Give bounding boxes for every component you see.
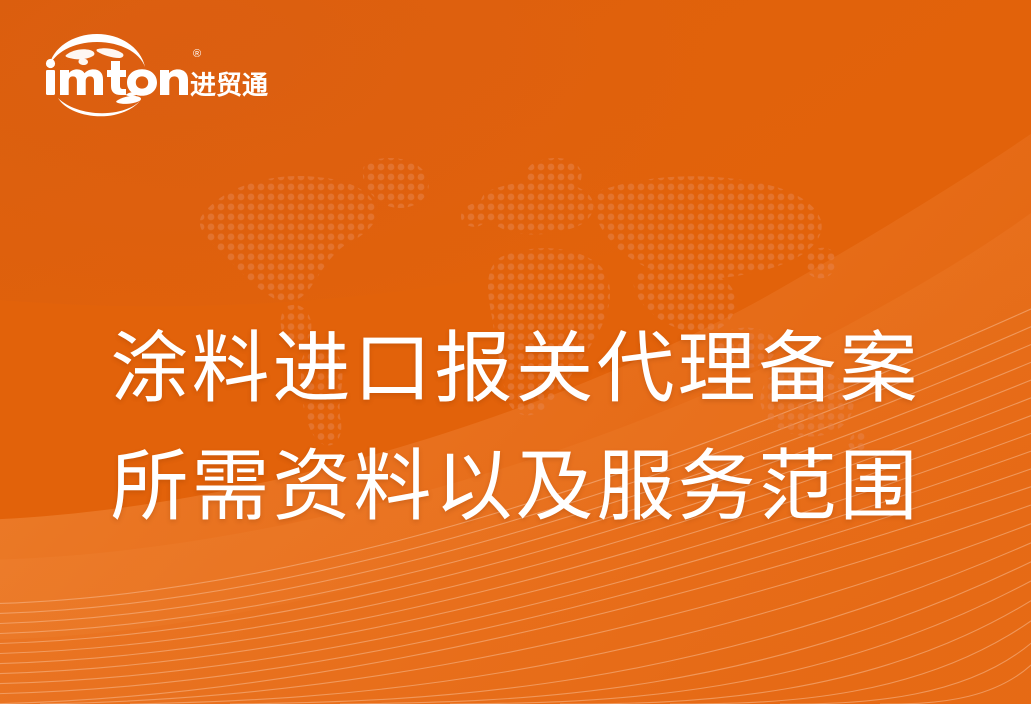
globe-arc-icon [49,34,145,67]
page-title-line-1: 涂料进口报关代理备案 [0,310,1031,428]
promo-banner: 进贸通 ® 涂料进口报关代理备案 所需资料以及服务范围 [0,0,1031,704]
brand-logo[interactable]: 进贸通 ® [36,28,226,106]
page-title: 涂料进口报关代理备案 所需资料以及服务范围 [0,310,1031,546]
page-title-line-2: 所需资料以及服务范围 [0,428,1031,546]
logo-wordmark [46,59,188,96]
registered-trademark-icon: ® [193,48,201,60]
logo-chinese-name: 进贸通 [190,70,268,100]
